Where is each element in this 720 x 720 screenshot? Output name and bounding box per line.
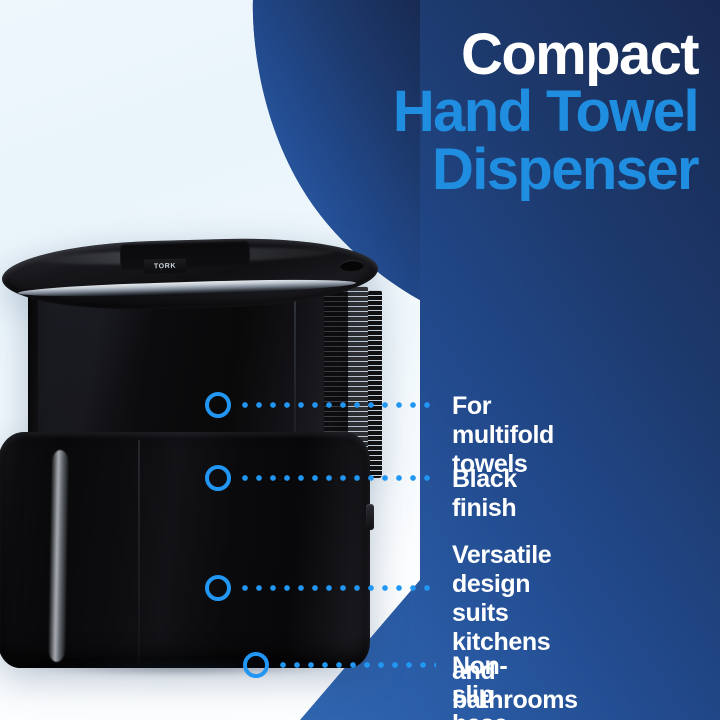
callout-label-1: Black finish bbox=[452, 465, 517, 523]
feature-callout-list: For multifold towels Black finish Versat… bbox=[0, 0, 720, 720]
product-infographic: Compact Hand Towel Dispenser TORK For mu… bbox=[0, 0, 720, 720]
callout-ring-icon-2 bbox=[205, 575, 231, 601]
callout-ring-icon-0 bbox=[205, 392, 231, 418]
callout-dotted-line-3 bbox=[276, 662, 436, 668]
callout-label-3: Non-slip base bbox=[452, 652, 507, 720]
callout-dotted-line-2 bbox=[238, 585, 436, 591]
callout-dotted-line-1 bbox=[238, 475, 436, 481]
callout-dotted-line-0 bbox=[238, 402, 436, 408]
callout-ring-icon-3 bbox=[243, 652, 269, 678]
callout-ring-icon-1 bbox=[205, 465, 231, 491]
